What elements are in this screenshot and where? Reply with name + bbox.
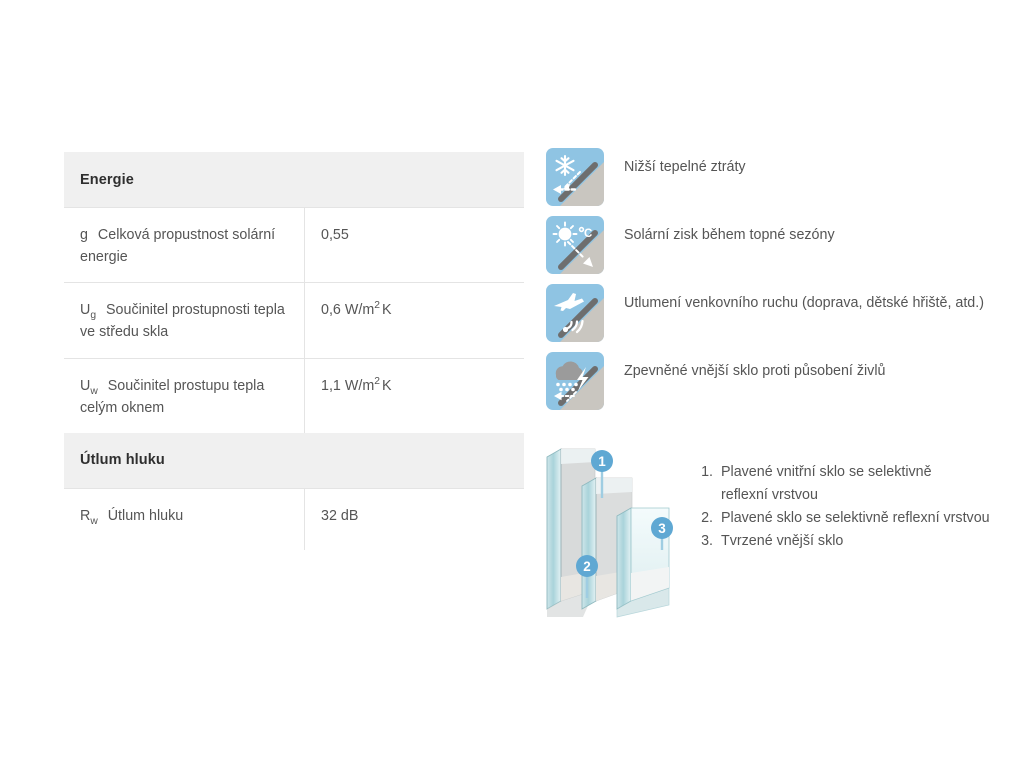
- list-item: Plavené vnitřní sklo se selektivně refle…: [717, 461, 973, 507]
- symbol-subscript-w: w: [90, 385, 97, 396]
- table-row: g Celková propustnost solární energie 0,…: [64, 207, 524, 282]
- table-row: Ug Součinitel prostupnosti tepla ve stře…: [64, 282, 524, 357]
- symbol-u: U: [80, 302, 90, 318]
- value-text: 1,1 W/m: [321, 378, 374, 394]
- storm-cloud-lightning-icon: [546, 352, 604, 410]
- section-title-noise-reduction: Útlum hluku: [80, 452, 165, 468]
- list-item: Zpevněné vnější sklo proti působení živl…: [546, 352, 986, 420]
- table-cell-value: 0,55: [305, 208, 524, 282]
- row-label-text: Součinitel prostupnosti tepla ve středu …: [80, 302, 285, 340]
- list-item: Plavené sklo se selektivně reflexní vrst…: [717, 507, 1024, 530]
- table-cell-label: g Celková propustnost solární energie: [64, 208, 305, 282]
- benefits-list: Nižší tepelné ztráty: [546, 148, 986, 420]
- row-label-text: Celková propustnost solární energie: [80, 227, 275, 265]
- list-item: C Solární zisk během topné sezóny: [546, 216, 986, 284]
- value-text: 32 dB: [321, 508, 358, 524]
- glazing-legend: Plavené vnitřní sklo se selektivně refle…: [697, 461, 1024, 554]
- symbol-g: g: [80, 227, 88, 243]
- snowflake-arrow-icon: [546, 148, 604, 206]
- table-cell-value: 0,6 W/m2K: [305, 283, 524, 357]
- benefit-label: Utlumení venkovního ruchu (doprava, děts…: [624, 293, 984, 313]
- value-text: 0,55: [321, 227, 349, 243]
- sun-temperature-icon: C: [546, 216, 604, 274]
- table-cell-value: 1,1 W/m2K: [305, 359, 524, 433]
- table-section-header-energy: Energie: [64, 152, 524, 207]
- list-item: Utlumení venkovního ruchu (doprava, děts…: [546, 284, 986, 352]
- benefit-label: Solární zisk během topné sezóny: [624, 225, 835, 245]
- value-unit: K: [382, 378, 392, 394]
- row-label-text: Útlum hluku: [108, 508, 184, 524]
- symbol-subscript-g: g: [90, 310, 96, 321]
- value-superscript: 2: [374, 376, 380, 387]
- table-section-header-noise-reduction: Útlum hluku: [64, 433, 524, 488]
- specifications-table: Energie g Celková propustnost solární en…: [64, 152, 524, 550]
- table-cell-value: 32 dB: [305, 489, 524, 550]
- row-label-text: Součinitel prostupu tepla celým oknem: [80, 378, 264, 416]
- svg-text:C: C: [584, 228, 592, 240]
- table-cell-label: Rw Útlum hluku: [64, 489, 305, 550]
- symbol-subscript-w: w: [90, 516, 97, 527]
- badge-number-2: 2: [583, 559, 591, 574]
- table-cell-label: Uw Součinitel prostupu tepla celým oknem: [64, 359, 305, 433]
- airplane-soundwave-icon: [546, 284, 604, 342]
- value-unit: K: [382, 302, 392, 318]
- value-text: 0,6 W/m: [321, 302, 374, 318]
- table-cell-label: Ug Součinitel prostupnosti tepla ve stře…: [64, 283, 305, 357]
- table-row: Uw Součinitel prostupu tepla celým oknem…: [64, 358, 524, 433]
- triple-glazing-diagram: 1 2 3: [535, 440, 705, 625]
- badge-number-1: 1: [598, 454, 606, 469]
- list-item: Nižší tepelné ztráty: [546, 148, 986, 216]
- section-title-energy: Energie: [80, 172, 134, 188]
- benefit-label: Zpevněné vnější sklo proti působení živl…: [624, 361, 885, 381]
- benefit-label: Nižší tepelné ztráty: [624, 157, 746, 177]
- symbol-u: U: [80, 378, 90, 394]
- symbol-r: R: [80, 508, 90, 524]
- list-item: Tvrzené vnější sklo: [717, 530, 1024, 553]
- value-superscript: 2: [374, 301, 380, 312]
- badge-number-3: 3: [658, 521, 666, 536]
- table-row: Rw Útlum hluku 32 dB: [64, 488, 524, 550]
